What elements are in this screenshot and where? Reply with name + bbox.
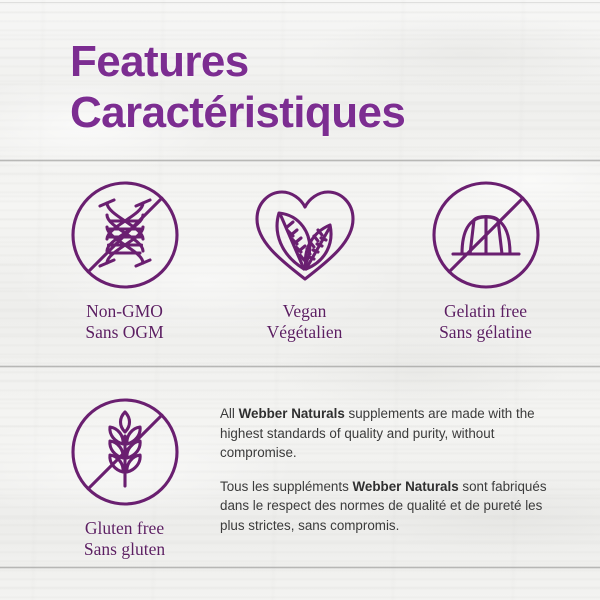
feature-label-gluten-free-fr: Sans gluten bbox=[37, 539, 212, 560]
feature-label-gluten-free-en: Gluten free bbox=[85, 518, 164, 538]
description-fr: Tous les suppléments Webber Naturals son… bbox=[220, 477, 550, 536]
description-block: All Webber Naturals supplements are made… bbox=[220, 404, 550, 536]
page-title-fr: Caractéristiques bbox=[70, 87, 405, 138]
feature-label-vegan: Vegan Végétalien bbox=[217, 301, 392, 343]
description-en: All Webber Naturals supplements are made… bbox=[220, 404, 550, 463]
heart-leaves-icon bbox=[245, 175, 365, 295]
description-en-part1: All bbox=[220, 406, 239, 421]
description-fr-part1: Tous les suppléments bbox=[220, 479, 353, 494]
wheat-no-symbol-icon bbox=[65, 392, 185, 512]
feature-label-non-gmo: Non-GMO Sans OGM bbox=[37, 301, 212, 343]
features-panel: Features Caractéristiques bbox=[0, 0, 600, 600]
dna-no-symbol-icon bbox=[65, 175, 185, 295]
feature-label-non-gmo-en: Non-GMO bbox=[86, 301, 163, 321]
plank-seam-top bbox=[0, 2, 600, 3]
page-title: Features Caractéristiques bbox=[70, 36, 405, 138]
brand-name-en: Webber Naturals bbox=[239, 406, 345, 421]
feature-label-gelatin-free-fr: Sans gélatine bbox=[398, 322, 573, 343]
gelatin-mold-no-symbol-icon bbox=[426, 175, 546, 295]
page-title-en: Features bbox=[70, 36, 405, 87]
plank-seam-2 bbox=[0, 365, 600, 368]
feature-vegan: Vegan Végétalien bbox=[217, 175, 392, 343]
feature-label-vegan-fr: Végétalien bbox=[217, 322, 392, 343]
brand-name-fr: Webber Naturals bbox=[353, 479, 459, 494]
feature-label-non-gmo-fr: Sans OGM bbox=[37, 322, 212, 343]
plank-seam-1 bbox=[0, 159, 600, 162]
feature-non-gmo: Non-GMO Sans OGM bbox=[37, 175, 212, 343]
feature-label-gelatin-free-en: Gelatin free bbox=[444, 301, 527, 321]
feature-gelatin-free: Gelatin free Sans gélatine bbox=[398, 175, 573, 343]
feature-label-gluten-free: Gluten free Sans gluten bbox=[37, 518, 212, 560]
feature-gluten-free: Gluten free Sans gluten bbox=[37, 392, 212, 560]
plank-seam-3 bbox=[0, 566, 600, 569]
feature-label-gelatin-free: Gelatin free Sans gélatine bbox=[398, 301, 573, 343]
feature-label-vegan-en: Vegan bbox=[283, 301, 327, 321]
